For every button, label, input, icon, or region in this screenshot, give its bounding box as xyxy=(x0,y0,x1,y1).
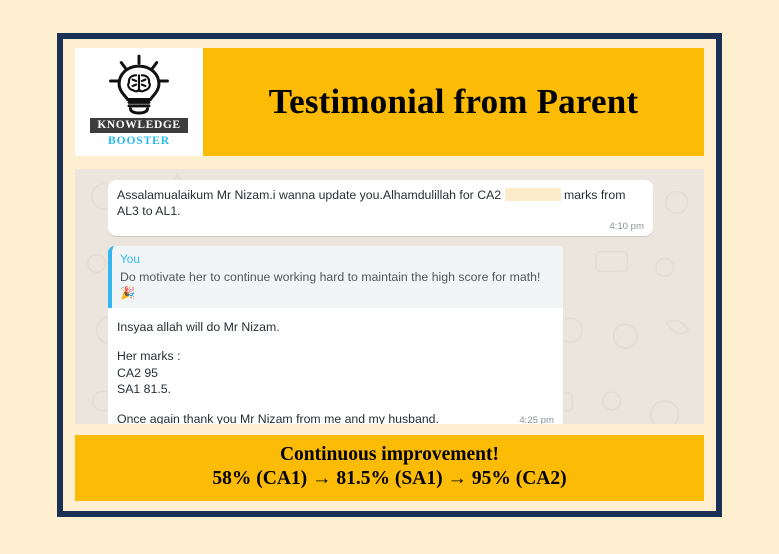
chat-message-list[interactable]: Assalamualaikum Mr Nizam.i wanna update … xyxy=(75,169,704,424)
message-final-row: Once again thank you Mr Nizam from me an… xyxy=(108,411,563,424)
message-paragraph: Insyaa allah will do Mr Nizam. xyxy=(108,319,563,335)
message-text-before-redaction: Assalamualaikum Mr Nizam.i wanna update … xyxy=(117,188,505,202)
logo-subtitle-text: BOOSTER xyxy=(108,135,170,147)
message-text: Assalamualaikum Mr Nizam.i wanna update … xyxy=(117,187,644,219)
redaction-block xyxy=(505,188,561,201)
lightbulb-brain-icon xyxy=(102,54,176,118)
message-paragraph: Once again thank you Mr Nizam from me an… xyxy=(117,411,439,424)
message-timestamp: 4:10 pm xyxy=(117,221,644,232)
footer-band: Continuous improvement! 58% (CA1) → 81.5… xyxy=(75,435,704,501)
quoted-reply-author: You xyxy=(120,252,555,267)
message-timestamp: 4:25 pm xyxy=(519,415,554,423)
page-title: Testimonial from Parent xyxy=(269,82,639,122)
quoted-reply[interactable]: You Do motivate her to continue working … xyxy=(108,246,563,308)
title-band: Testimonial from Parent xyxy=(203,48,704,156)
footer-progression: 58% (CA1) → 81.5% (SA1) → 95% (CA2) xyxy=(75,467,704,491)
brand-logo: KNOWLEDGE BOOSTER xyxy=(75,48,203,156)
poster-inner: KNOWLEDGE BOOSTER Testimonial from Paren… xyxy=(63,39,716,511)
message-marks-list: Her marks : CA2 95 SA1 81.5. xyxy=(108,348,563,397)
quoted-reply-text: Do motivate her to continue working hard… xyxy=(120,269,555,301)
logo-badge-text: KNOWLEDGE xyxy=(90,118,187,133)
chat-message-bubble[interactable]: Assalamualaikum Mr Nizam.i wanna update … xyxy=(108,180,653,236)
chat-panel: Assalamualaikum Mr Nizam.i wanna update … xyxy=(75,169,704,424)
footer-headline: Continuous improvement! xyxy=(75,443,704,467)
chat-message-bubble[interactable]: You Do motivate her to continue working … xyxy=(108,246,563,423)
poster-frame: KNOWLEDGE BOOSTER Testimonial from Paren… xyxy=(57,33,722,517)
header-band: KNOWLEDGE BOOSTER Testimonial from Paren… xyxy=(75,48,704,156)
